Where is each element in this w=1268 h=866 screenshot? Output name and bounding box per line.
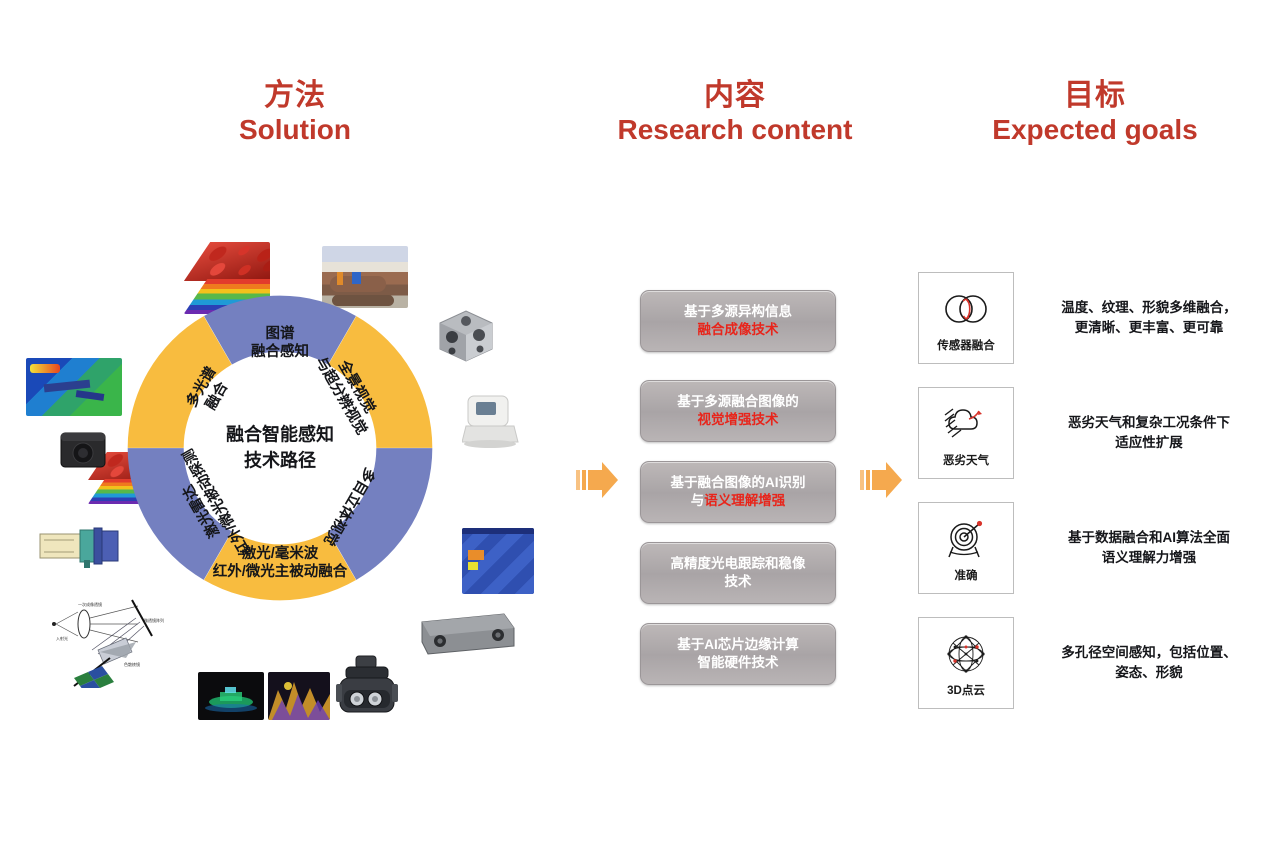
header-content-cn: 内容 [560,78,910,113]
goal-icon-box-4[interactable]: 3D点云 [918,617,1014,709]
panoramic-sensor-device-photo [462,388,520,450]
svg-text:微透镜阵列: 微透镜阵列 [144,617,164,623]
header-solution-cn: 方法 [150,78,440,113]
research-content-box-5[interactable]: 基于AI芯片边缘计算 智能硬件技术 [640,623,836,685]
research-content-box-1[interactable]: 基于多源异构信息 融合成像技术 [640,290,836,352]
rc1-line2: 融合成像技术 [684,321,792,339]
rc2-line2: 视觉增强技术 [677,411,799,429]
low-light-fusion-image [268,672,330,720]
multi-camera-rig-photo [432,305,500,367]
donut-center-label: 融合智能感知 技术路径 [185,422,375,473]
goal-text-3: 基于数据融合和AI算法全面 语义理解力增强 [1040,528,1258,567]
goal-row-bad-weather: 恶劣天气 恶劣天气和复杂工况条件下 适应性扩展 [918,387,1258,479]
goal-icon-box-1[interactable]: 传感器融合 [918,272,1014,364]
stereo-camera-bar-photo [418,608,518,656]
optical-module-diagram [38,522,130,572]
rc3-line2: 语义理解增强 [704,493,785,508]
rc5-line2: 智能硬件技术 [677,654,799,672]
goal-icon-box-3[interactable]: 准确 [918,502,1014,594]
rc3-line1: 基于融合图像的AI识别 [671,474,806,492]
rc1-line1: 基于多源异构信息 [684,303,792,321]
thermal-false-color-image [26,358,122,416]
eo-ir-gimbal-photo [330,654,404,726]
research-content-box-3[interactable]: 基于融合图像的AI识别 与语义理解增强 [640,461,836,523]
arrow-solution-to-content [572,458,620,502]
research-content-box-2[interactable]: 基于多源融合图像的 视觉增强技术 [640,380,836,442]
rc5-line1: 基于AI芯片边缘计算 [677,636,799,654]
point-cloud-sphere-icon [941,629,991,679]
goal-icon-caption-2: 恶劣天气 [943,452,989,468]
goal-icon-caption-3: 准确 [955,567,978,583]
goal-row-accuracy: 准确 基于数据融合和AI算法全面 语义理解力增强 [918,502,1258,594]
stereo-depth-blocks-image [462,528,534,594]
rc4-line2: 技术 [671,573,806,591]
column-header-solution: 方法 Solution [150,78,440,146]
column-header-research-content: 内容 Research content [560,78,910,146]
goal-icon-caption-4: 3D点云 [947,682,985,698]
diagram-canvas: 方法 Solution 内容 Research content 目标 Expec… [0,0,1268,866]
header-goals-cn: 目标 [930,78,1260,113]
goal-text-2: 恶劣天气和复杂工况条件下 适应性扩展 [1040,413,1258,452]
header-solution-en: Solution [150,113,440,146]
goal-text-4: 多孔径空间感知，包括位置、 姿态、形貌 [1040,643,1258,682]
svg-text:色散棱镜: 色散棱镜 [124,661,140,667]
black-camera-module-photo [58,428,110,472]
svg-text:入射光: 入射光 [56,635,68,641]
goal-icon-box-2[interactable]: 恶劣天气 [918,387,1014,479]
goal-text-1: 温度、纹理、形貌多维融合， 更清晰、更丰富、更可靠 [1040,298,1258,337]
goal-icon-caption-1: 传感器融合 [937,337,995,353]
rc2-line1: 基于多源融合图像的 [677,393,799,411]
svg-text:一次成像透镜: 一次成像透镜 [78,601,102,607]
research-content-box-4[interactable]: 高精度光电跟踪和稳像 技术 [640,542,836,604]
column-header-expected-goals: 目标 Expected goals [930,78,1260,146]
goal-row-sensor-fusion: 传感器融合 温度、纹理、形貌多维融合， 更清晰、更丰富、更可靠 [918,272,1258,364]
goal-row-point-cloud: 3D点云 多孔径空间感知，包括位置、 姿态、形貌 [918,617,1258,709]
header-content-en: Research content [560,113,910,146]
arrow-content-to-goals [856,458,904,502]
target-dart-icon [939,514,993,564]
rc3-line2-prefix: 与 [691,493,705,508]
header-goals-en: Expected goals [930,113,1260,146]
lidar-point-cloud-image [198,672,264,720]
bad-weather-rain-cloud-icon [939,399,993,449]
rc4-line1: 高精度光电跟踪和稳像 [671,555,806,573]
sensor-fusion-venn-icon [938,284,994,334]
solution-donut-chart: 图谱 融合感知 全景视觉 与超分辨视觉 多目立体视觉 激光/毫米波 红外/微光主… [120,288,440,608]
